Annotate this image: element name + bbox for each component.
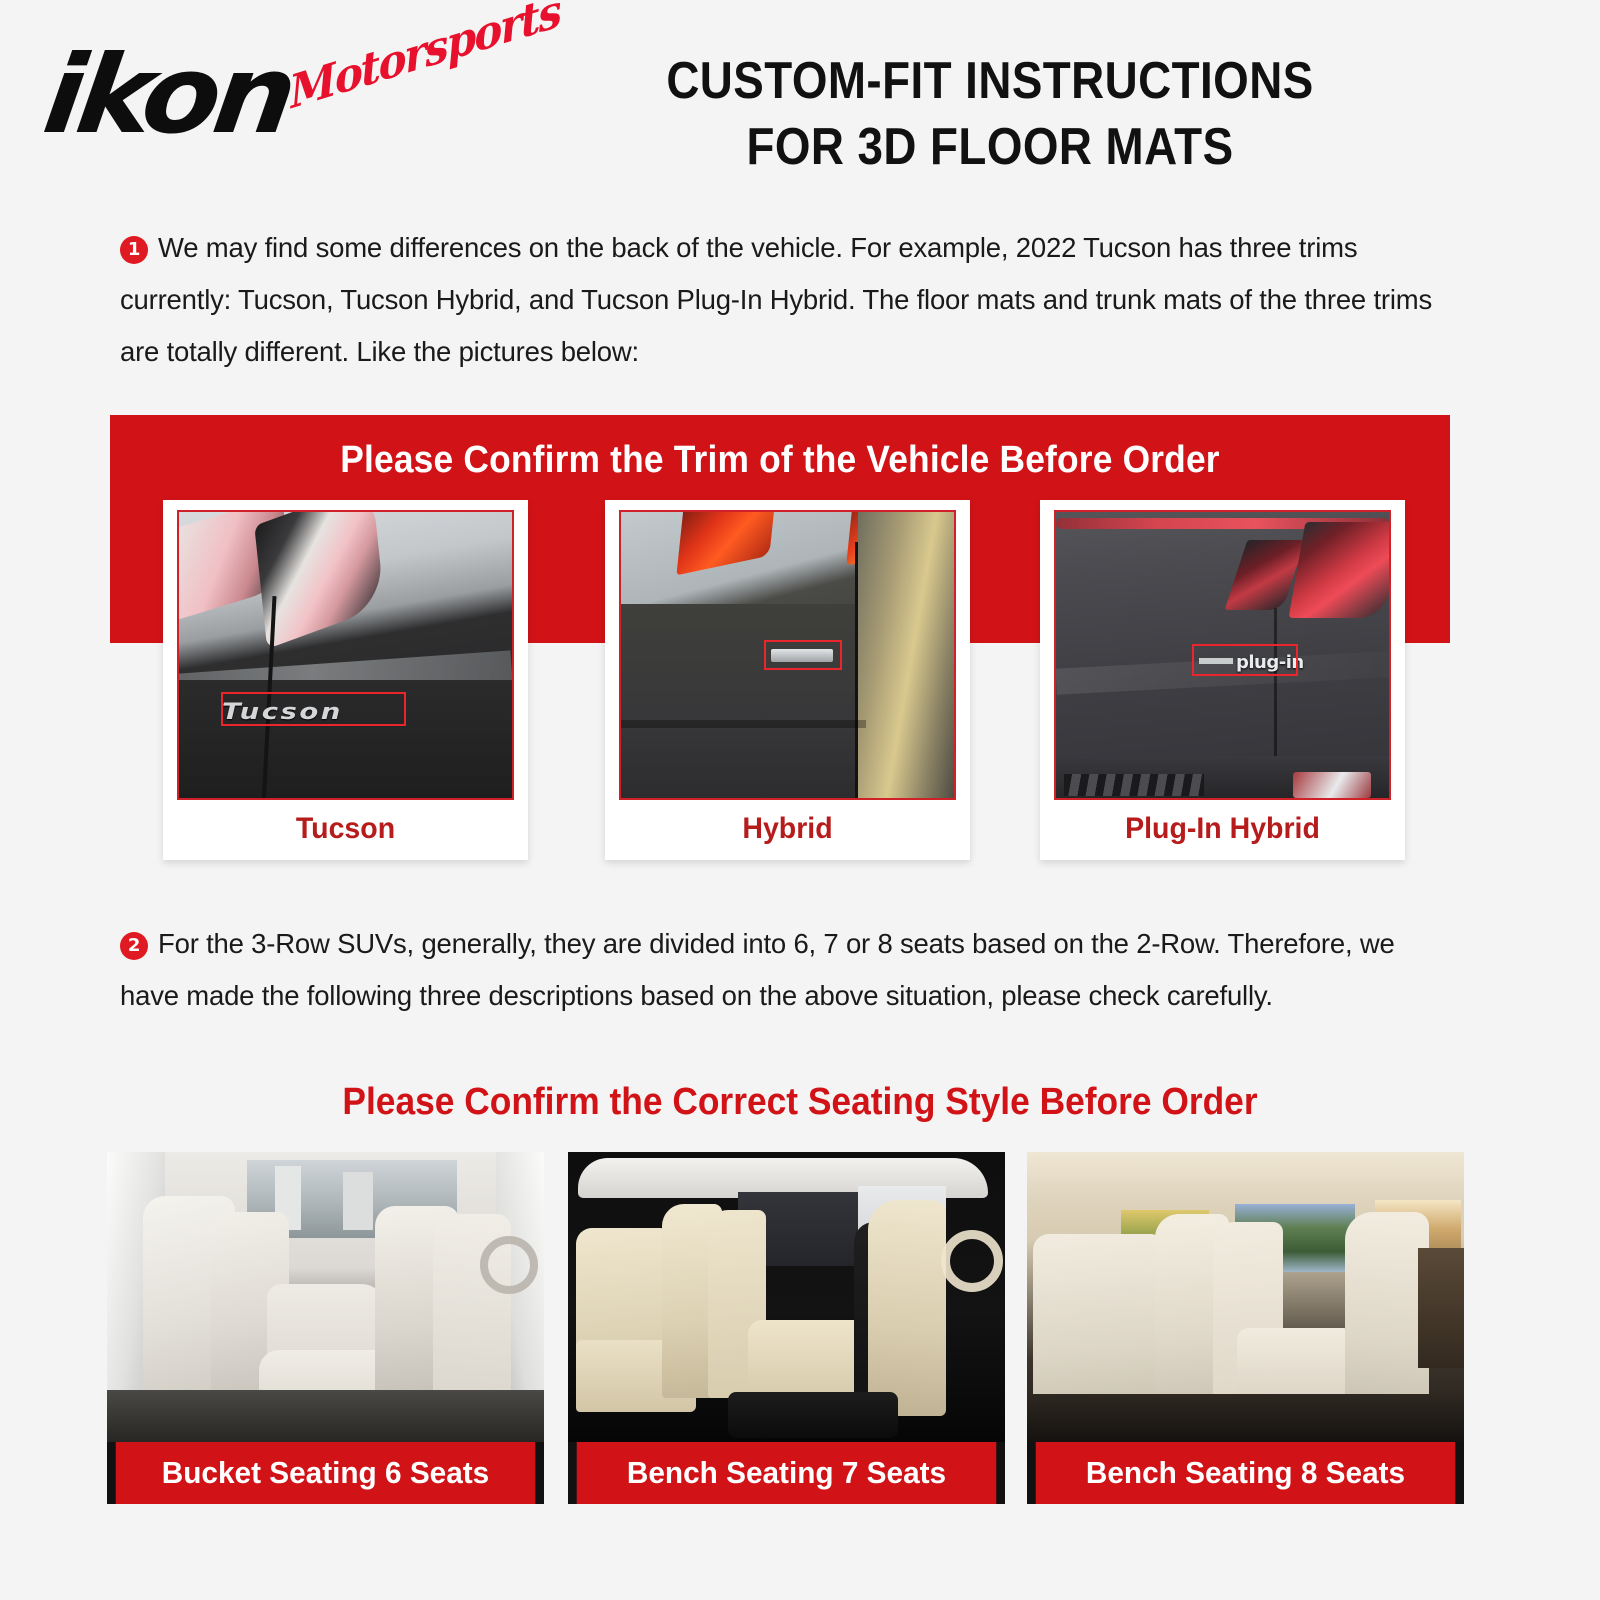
seating-card-bench-7[interactable]: Bench Seating 7 Seats [568, 1152, 1005, 1504]
step-2-number-badge: 2 [120, 932, 148, 960]
vehicle-rear-quarter-image: Tucson [179, 512, 512, 798]
trim-card-list: Tucson Tucson Hybrid [110, 500, 1450, 865]
seating-photo-bench-8 [1027, 1152, 1464, 1442]
highlight-box [764, 640, 842, 670]
trim-photo-tucson: Tucson [177, 510, 514, 800]
page-title-line-1: CUSTOM-FIT INSTRUCTIONS [506, 48, 1474, 114]
page-header: ikon Motorsports CUSTOM-FIT INSTRUCTIONS… [0, 0, 1600, 205]
seating-card-bucket-6[interactable]: Bucket Seating 6 Seats [107, 1152, 544, 1504]
trim-photo-hybrid [619, 510, 956, 800]
step-2-text: For the 3-Row SUVs, generally, they are … [120, 928, 1395, 1011]
taillight-left-icon [676, 510, 776, 575]
seating-label-bench-8: Bench Seating 8 Seats [1036, 1442, 1456, 1504]
steering-wheel-icon [941, 1230, 1003, 1292]
seating-photo-bucket-6 [107, 1152, 544, 1442]
page-title: CUSTOM-FIT INSTRUCTIONS FOR 3D FLOOR MAT… [440, 48, 1540, 180]
seating-section-title: Please Confirm the Correct Seating Style… [56, 1081, 1544, 1124]
vehicle-rear-quarter-image: plug-in [1056, 512, 1389, 798]
trim-photo-plugin-hybrid: plug-in [1054, 510, 1391, 800]
dashboard-panel [1418, 1248, 1464, 1368]
suv-interior-image [1027, 1152, 1464, 1442]
suv-interior-image [568, 1152, 1005, 1442]
trim-card-plugin-hybrid[interactable]: plug-in Plug-In Hybrid [1040, 500, 1405, 860]
step-1-text: We may find some differences on the back… [120, 232, 1432, 367]
page-title-line-2: FOR 3D FLOOR MATS [506, 114, 1474, 180]
highlight-box [1192, 644, 1298, 676]
door-gap-line [855, 542, 858, 800]
step-2-paragraph: 2For the 3-Row SUVs, generally, they are… [120, 918, 1450, 1022]
highlight-box [221, 692, 406, 726]
seating-photo-bench-7 [568, 1152, 1005, 1442]
diffuser-vents [1064, 774, 1204, 796]
trim-caption-hybrid: Hybrid [614, 812, 961, 846]
rear-fender-panel [858, 512, 954, 798]
suv-interior-image [107, 1152, 544, 1442]
step-1-paragraph: 1We may find some differences on the bac… [120, 222, 1450, 378]
body-crease [621, 720, 866, 728]
trim-caption-plugin-hybrid: Plug-In Hybrid [1049, 812, 1396, 846]
seating-card-bench-8[interactable]: Bench Seating 8 Seats [1027, 1152, 1464, 1504]
seat [868, 1200, 946, 1416]
trim-card-hybrid[interactable]: Hybrid [605, 500, 970, 860]
logo-wordmark: ikon [38, 42, 297, 150]
seat [1345, 1212, 1429, 1424]
trim-caption-tucson: Tucson [172, 812, 519, 846]
trim-card-tucson[interactable]: Tucson Tucson [163, 500, 528, 860]
window-scenery [343, 1172, 373, 1230]
taillight-right-icon [1289, 522, 1391, 618]
reflector-light-icon [1293, 772, 1371, 798]
brand-logo: ikon Motorsports [30, 28, 470, 168]
step-1-number-badge: 1 [120, 236, 148, 264]
instruction-page: ikon Motorsports CUSTOM-FIT INSTRUCTIONS… [0, 0, 1600, 1600]
seating-card-list: Bucket Seating 6 Seats [107, 1152, 1497, 1512]
seating-label-bench-7: Bench Seating 7 Seats [577, 1442, 997, 1504]
floor-area [107, 1390, 544, 1442]
trim-banner-title: Please Confirm the Trim of the Vehicle B… [157, 439, 1403, 482]
steering-wheel-icon [480, 1236, 538, 1294]
seating-label-bucket-6: Bucket Seating 6 Seats [116, 1442, 536, 1504]
floor-area [728, 1392, 898, 1438]
roof-panel [1027, 1152, 1464, 1204]
vehicle-rear-quarter-image [621, 512, 954, 798]
floor-area [1027, 1394, 1464, 1442]
